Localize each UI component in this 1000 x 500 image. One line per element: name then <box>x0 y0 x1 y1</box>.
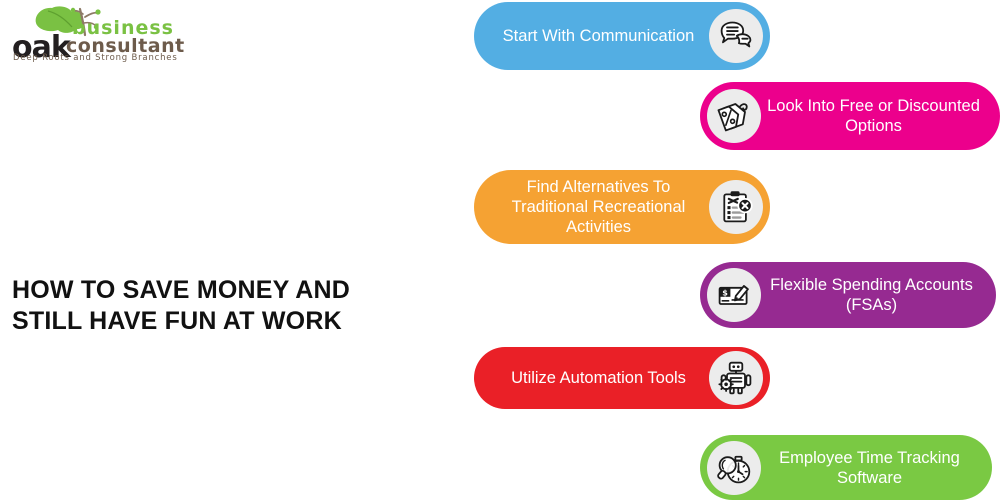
tip-label-2: Look Into Free or Discounted Options <box>761 96 986 136</box>
svg-text:$: $ <box>722 287 728 297</box>
logo-tagline: Deep Roots and Strong Branches <box>13 53 178 63</box>
infographic-canvas: oak business consultant Deep Roots and S… <box>0 0 1000 500</box>
tip-label-1: Start With Communication <box>488 26 709 46</box>
tip-label-5: Utilize Automation Tools <box>488 368 709 388</box>
tip-label-6: Employee Time Tracking Software <box>761 448 978 488</box>
tip-item-5[interactable]: Utilize Automation Tools <box>474 347 770 409</box>
cheque-pen-dollar-icon: $ <box>707 268 761 322</box>
tip-item-2[interactable]: Look Into Free or Discounted Options <box>700 82 1000 150</box>
tip-item-3[interactable]: Find Alternatives To Traditional Recreat… <box>474 170 770 244</box>
tip-item-6[interactable]: Employee Time Tracking Software <box>700 435 992 500</box>
clipboard-cancel-icon <box>709 180 763 234</box>
tip-label-4: Flexible Spending Accounts (FSAs) <box>761 275 982 315</box>
tip-item-4[interactable]: $ Flexible Spending Accounts (FSAs) <box>700 262 996 328</box>
page-title: HOW TO SAVE MONEY AND STILL HAVE FUN AT … <box>12 275 357 337</box>
tip-label-3: Find Alternatives To Traditional Recreat… <box>488 177 709 237</box>
discount-tags-icon <box>707 89 761 143</box>
tip-item-1[interactable]: Start With Communication <box>474 2 770 70</box>
chat-bubbles-icon <box>709 9 763 63</box>
robot-gear-icon <box>709 351 763 405</box>
brand-logo: oak business consultant Deep Roots and S… <box>8 5 188 67</box>
stopwatch-magnifier-icon <box>707 441 761 495</box>
